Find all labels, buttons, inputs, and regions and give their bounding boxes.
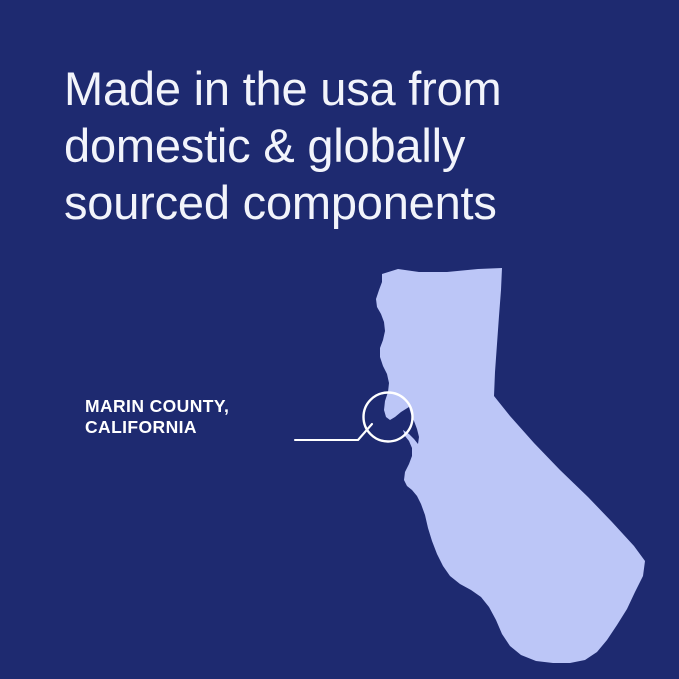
callout-label: MARIN COUNTY, CALIFORNIA — [85, 396, 229, 438]
callout-leader-line — [295, 424, 372, 440]
promo-graphic: Made in the usa from domestic & globally… — [0, 0, 679, 679]
california-map-graphic — [0, 0, 679, 679]
california-state-icon — [376, 268, 645, 663]
